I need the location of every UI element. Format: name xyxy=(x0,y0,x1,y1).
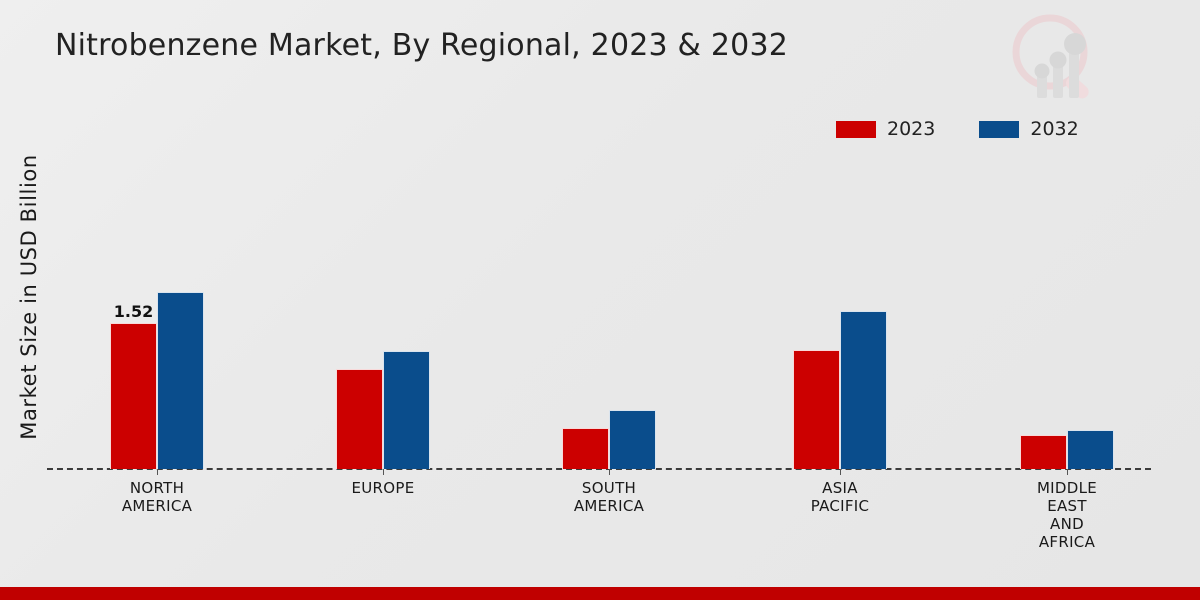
x-axis-tick xyxy=(609,468,610,475)
x-axis-label-line: SOUTH xyxy=(509,479,709,497)
bar-south-america-2032[interactable] xyxy=(609,410,656,469)
footer-accent-band xyxy=(0,587,1200,600)
bar-north-america-2023[interactable] xyxy=(110,323,157,469)
x-axis-label-line: MIDDLE xyxy=(967,479,1167,497)
bar-europe-2023[interactable] xyxy=(336,369,383,469)
x-axis-label-line: EUROPE xyxy=(283,479,483,497)
x-axis-label-line: AFRICA xyxy=(967,533,1167,551)
bar-middle-east-and-africa-2032[interactable] xyxy=(1067,430,1114,469)
x-axis-label-south-america: SOUTHAMERICA xyxy=(509,479,709,515)
x-axis-tick xyxy=(840,468,841,475)
bar-north-america-2032[interactable] xyxy=(157,292,204,469)
x-axis-label-line: PACIFIC xyxy=(740,497,940,515)
x-axis-label-line: AND xyxy=(967,515,1167,533)
x-axis-tick xyxy=(157,468,158,475)
x-axis-label-line: ASIA xyxy=(740,479,940,497)
x-axis-label-europe: EUROPE xyxy=(283,479,483,497)
bar-asia-pacific-2023[interactable] xyxy=(793,350,840,469)
x-axis-label-north-america: NORTHAMERICA xyxy=(57,479,257,515)
x-axis-label-line: AMERICA xyxy=(509,497,709,515)
x-axis-label-line: EAST xyxy=(967,497,1167,515)
bar-value-label: 1.52 xyxy=(110,302,157,321)
x-axis-label-line: NORTH xyxy=(57,479,257,497)
x-axis-tick xyxy=(383,468,384,475)
chart-plot-area: 1.52 NORTHAMERICAEUROPESOUTHAMERICAASIAP… xyxy=(0,0,1200,470)
bar-middle-east-and-africa-2023[interactable] xyxy=(1020,435,1067,469)
x-axis-tick xyxy=(1067,468,1068,475)
x-axis-label-middle-east-and-africa: MIDDLEEASTANDAFRICA xyxy=(967,479,1167,551)
x-axis-label-asia-pacific: ASIAPACIFIC xyxy=(740,479,940,515)
bar-south-america-2023[interactable] xyxy=(562,428,609,469)
x-axis-label-line: AMERICA xyxy=(57,497,257,515)
bar-europe-2032[interactable] xyxy=(383,351,430,469)
bar-asia-pacific-2032[interactable] xyxy=(840,311,887,469)
